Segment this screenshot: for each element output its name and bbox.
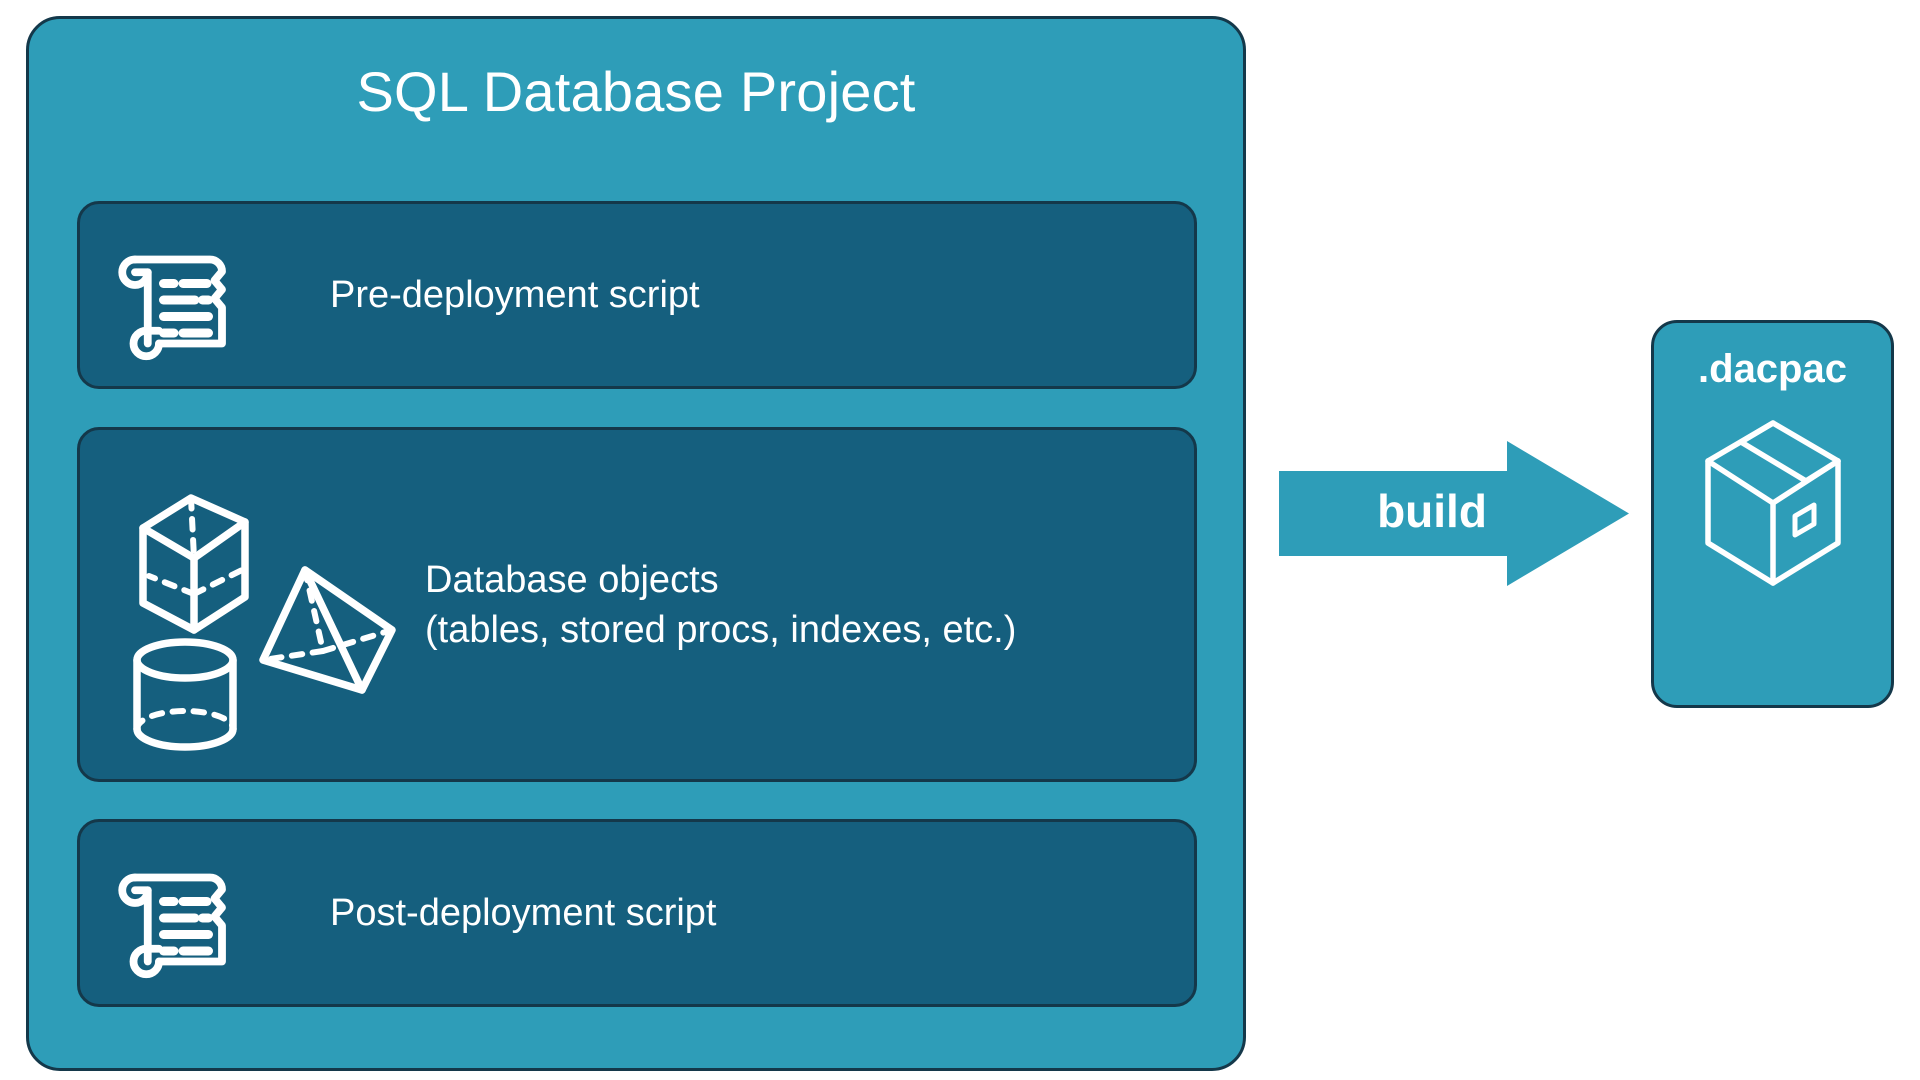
card-post-deployment-script[interactable]: Post-deployment script (77, 819, 1197, 1007)
build-label: build (1322, 482, 1542, 540)
sql-database-project-panel: SQL Database Project Pre-deplo (26, 16, 1246, 1071)
page-title: SQL Database Project (29, 61, 1243, 123)
card-label-post-deployment: Post-deployment script (330, 888, 717, 938)
scroll-icon (102, 218, 252, 373)
dacpac-output-panel[interactable]: .dacpac (1651, 320, 1894, 708)
dacpac-label: .dacpac (1654, 345, 1891, 393)
cube-icon (143, 498, 245, 630)
cylinder-icon (137, 642, 233, 747)
database-objects-line-1: Database objects (425, 555, 1016, 605)
card-database-objects[interactable]: Database objects (tables, stored procs, … (77, 427, 1197, 782)
card-pre-deployment-script[interactable]: Pre-deployment script (77, 201, 1197, 389)
scroll-icon (102, 836, 252, 991)
database-objects-line-2: (tables, stored procs, indexes, etc.) (425, 605, 1016, 655)
card-label-pre-deployment: Pre-deployment script (330, 270, 700, 320)
pyramid-icon (263, 570, 392, 690)
package-box-icon (1698, 411, 1848, 606)
database-objects-icon-group (98, 456, 398, 761)
card-label-database-objects: Database objects (tables, stored procs, … (425, 555, 1016, 655)
